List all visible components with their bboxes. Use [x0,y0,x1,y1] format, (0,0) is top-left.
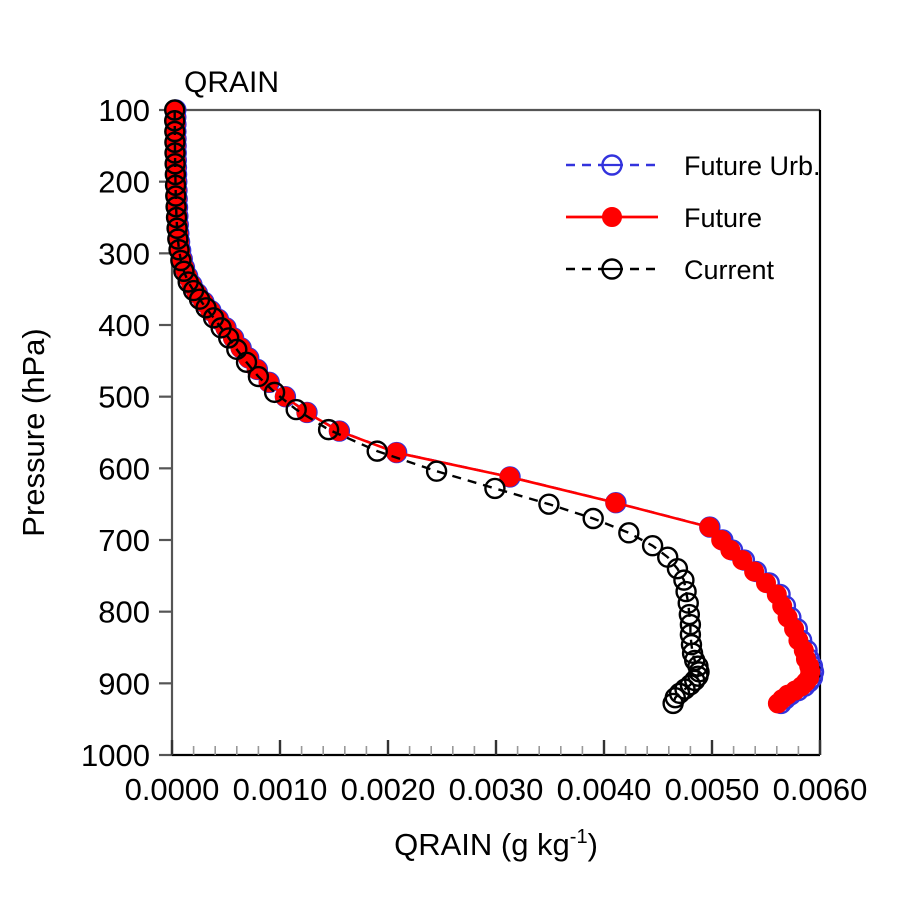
legend-label: Current [684,255,775,285]
series-layer [165,101,823,713]
data-point [387,443,406,462]
y-tick-label: 600 [98,451,150,486]
y-tick-label: 200 [98,165,150,200]
x-tick-label: 0.0020 [341,772,436,807]
y-tick-label: 800 [98,595,150,630]
x-axis-title-tail: ) [588,827,598,862]
data-point [606,493,625,512]
chart-svg: 10020030040050060070080090010000.00000.0… [0,0,900,900]
x-tick-label: 0.0050 [665,772,760,807]
y-tick-label: 700 [98,523,150,558]
data-point [619,523,638,542]
series-line [175,110,810,703]
legend-label: Future [684,203,762,233]
x-tick-label: 0.0030 [449,772,544,807]
x-tick-label: 0.0000 [125,772,220,807]
series-future-urb [166,101,823,713]
series-line [175,110,699,703]
qrain-pressure-profile-chart: 10020030040050060070080090010000.00000.0… [0,0,900,900]
x-axis-title: QRAIN (g kg-1) [394,826,598,862]
legend-item-current[interactable]: Current [566,255,775,285]
y-tick-label: 500 [98,380,150,415]
y-tick-label: 900 [98,666,150,701]
legend-label: Future Urb. [684,151,821,181]
data-point [485,479,504,498]
y-tick-label: 400 [98,308,150,343]
series-future [166,101,820,713]
legend-marker [603,208,622,227]
legend-item-future-urb[interactable]: Future Urb. [566,151,821,181]
x-axis-title-base: QRAIN (g kg [394,827,570,862]
x-tick-label: 0.0040 [557,772,652,807]
data-point [427,462,446,481]
y-tick-label: 300 [98,236,150,271]
data-point [768,694,787,713]
y-tick-label: 100 [98,93,150,128]
x-axis-title-exponent: -1 [570,826,588,848]
series-line [176,110,814,703]
y-axis-title: Pressure (hPa) [16,328,51,536]
plot-title: QRAIN [184,66,279,99]
y-tick-label: 1000 [81,738,150,773]
legend-layer[interactable]: Future Urb.FutureCurrent [566,151,821,285]
series-current [165,101,708,713]
x-tick-label: 0.0060 [773,772,868,807]
x-tick-label: 0.0010 [233,772,328,807]
legend-item-future[interactable]: Future [566,203,762,233]
